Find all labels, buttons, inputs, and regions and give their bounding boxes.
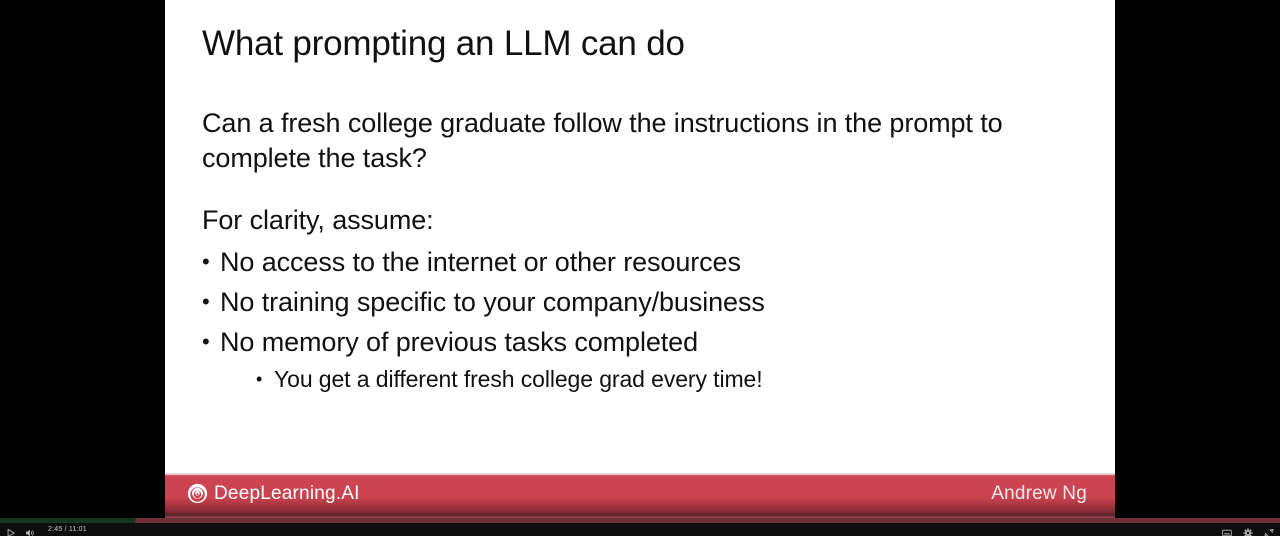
bullet-marker-icon: • — [202, 282, 210, 322]
list-item-label: No access to the internet or other resou… — [220, 247, 741, 277]
slide-title: What prompting an LLM can do — [202, 22, 685, 66]
list-item-label: No memory of previous tasks completed — [220, 327, 698, 357]
presenter-name: Andrew Ng — [991, 483, 1087, 504]
fullscreen-icon[interactable] — [1264, 525, 1274, 535]
assumption-bullet-list: • No access to the internet or other res… — [202, 242, 765, 397]
slide-footer-band: DeepLearning.AI Andrew Ng — [165, 473, 1115, 518]
gear-icon[interactable] — [1243, 525, 1253, 535]
video-control-bar: 2:45 / 11:01 — [0, 518, 1280, 536]
slide-canvas: What prompting an LLM can do Can a fresh… — [165, 0, 1115, 518]
slide-content: What prompting an LLM can do Can a fresh… — [165, 0, 1115, 473]
list-item: • No training specific to your company/b… — [202, 282, 765, 322]
player-controls-left: 2:45 / 11:01 — [6, 525, 87, 535]
bullet-marker-icon: • — [256, 361, 262, 397]
list-item: • No access to the internet or other res… — [202, 242, 765, 282]
list-item: • You get a different fresh college grad… — [256, 361, 765, 397]
play-icon[interactable] — [6, 525, 16, 535]
list-item: • No memory of previous tasks completed … — [202, 322, 765, 397]
bullet-marker-icon: • — [202, 242, 210, 282]
slide-question-paragraph: Can a fresh college graduate follow the … — [202, 106, 1032, 176]
video-player-viewport: What prompting an LLM can do Can a fresh… — [0, 0, 1280, 536]
bullet-marker-icon: • — [202, 322, 210, 362]
list-item-label: You get a different fresh college grad e… — [274, 366, 763, 392]
player-controls: 2:45 / 11:01 — [0, 523, 1280, 536]
deeplearning-spiral-logo-icon — [187, 483, 208, 504]
list-item-label: No training specific to your company/bus… — [220, 287, 765, 317]
brand-name: DeepLearning.AI — [214, 483, 360, 504]
slide-assume-lead: For clarity, assume: — [202, 203, 434, 238]
captions-icon[interactable] — [1222, 525, 1232, 535]
time-display: 2:45 / 11:01 — [48, 525, 87, 535]
volume-icon[interactable] — [25, 525, 35, 535]
nested-bullet-list: • You get a different fresh college grad… — [220, 361, 765, 397]
player-controls-right — [1222, 525, 1274, 535]
brand-lockup: DeepLearning.AI — [187, 483, 360, 504]
